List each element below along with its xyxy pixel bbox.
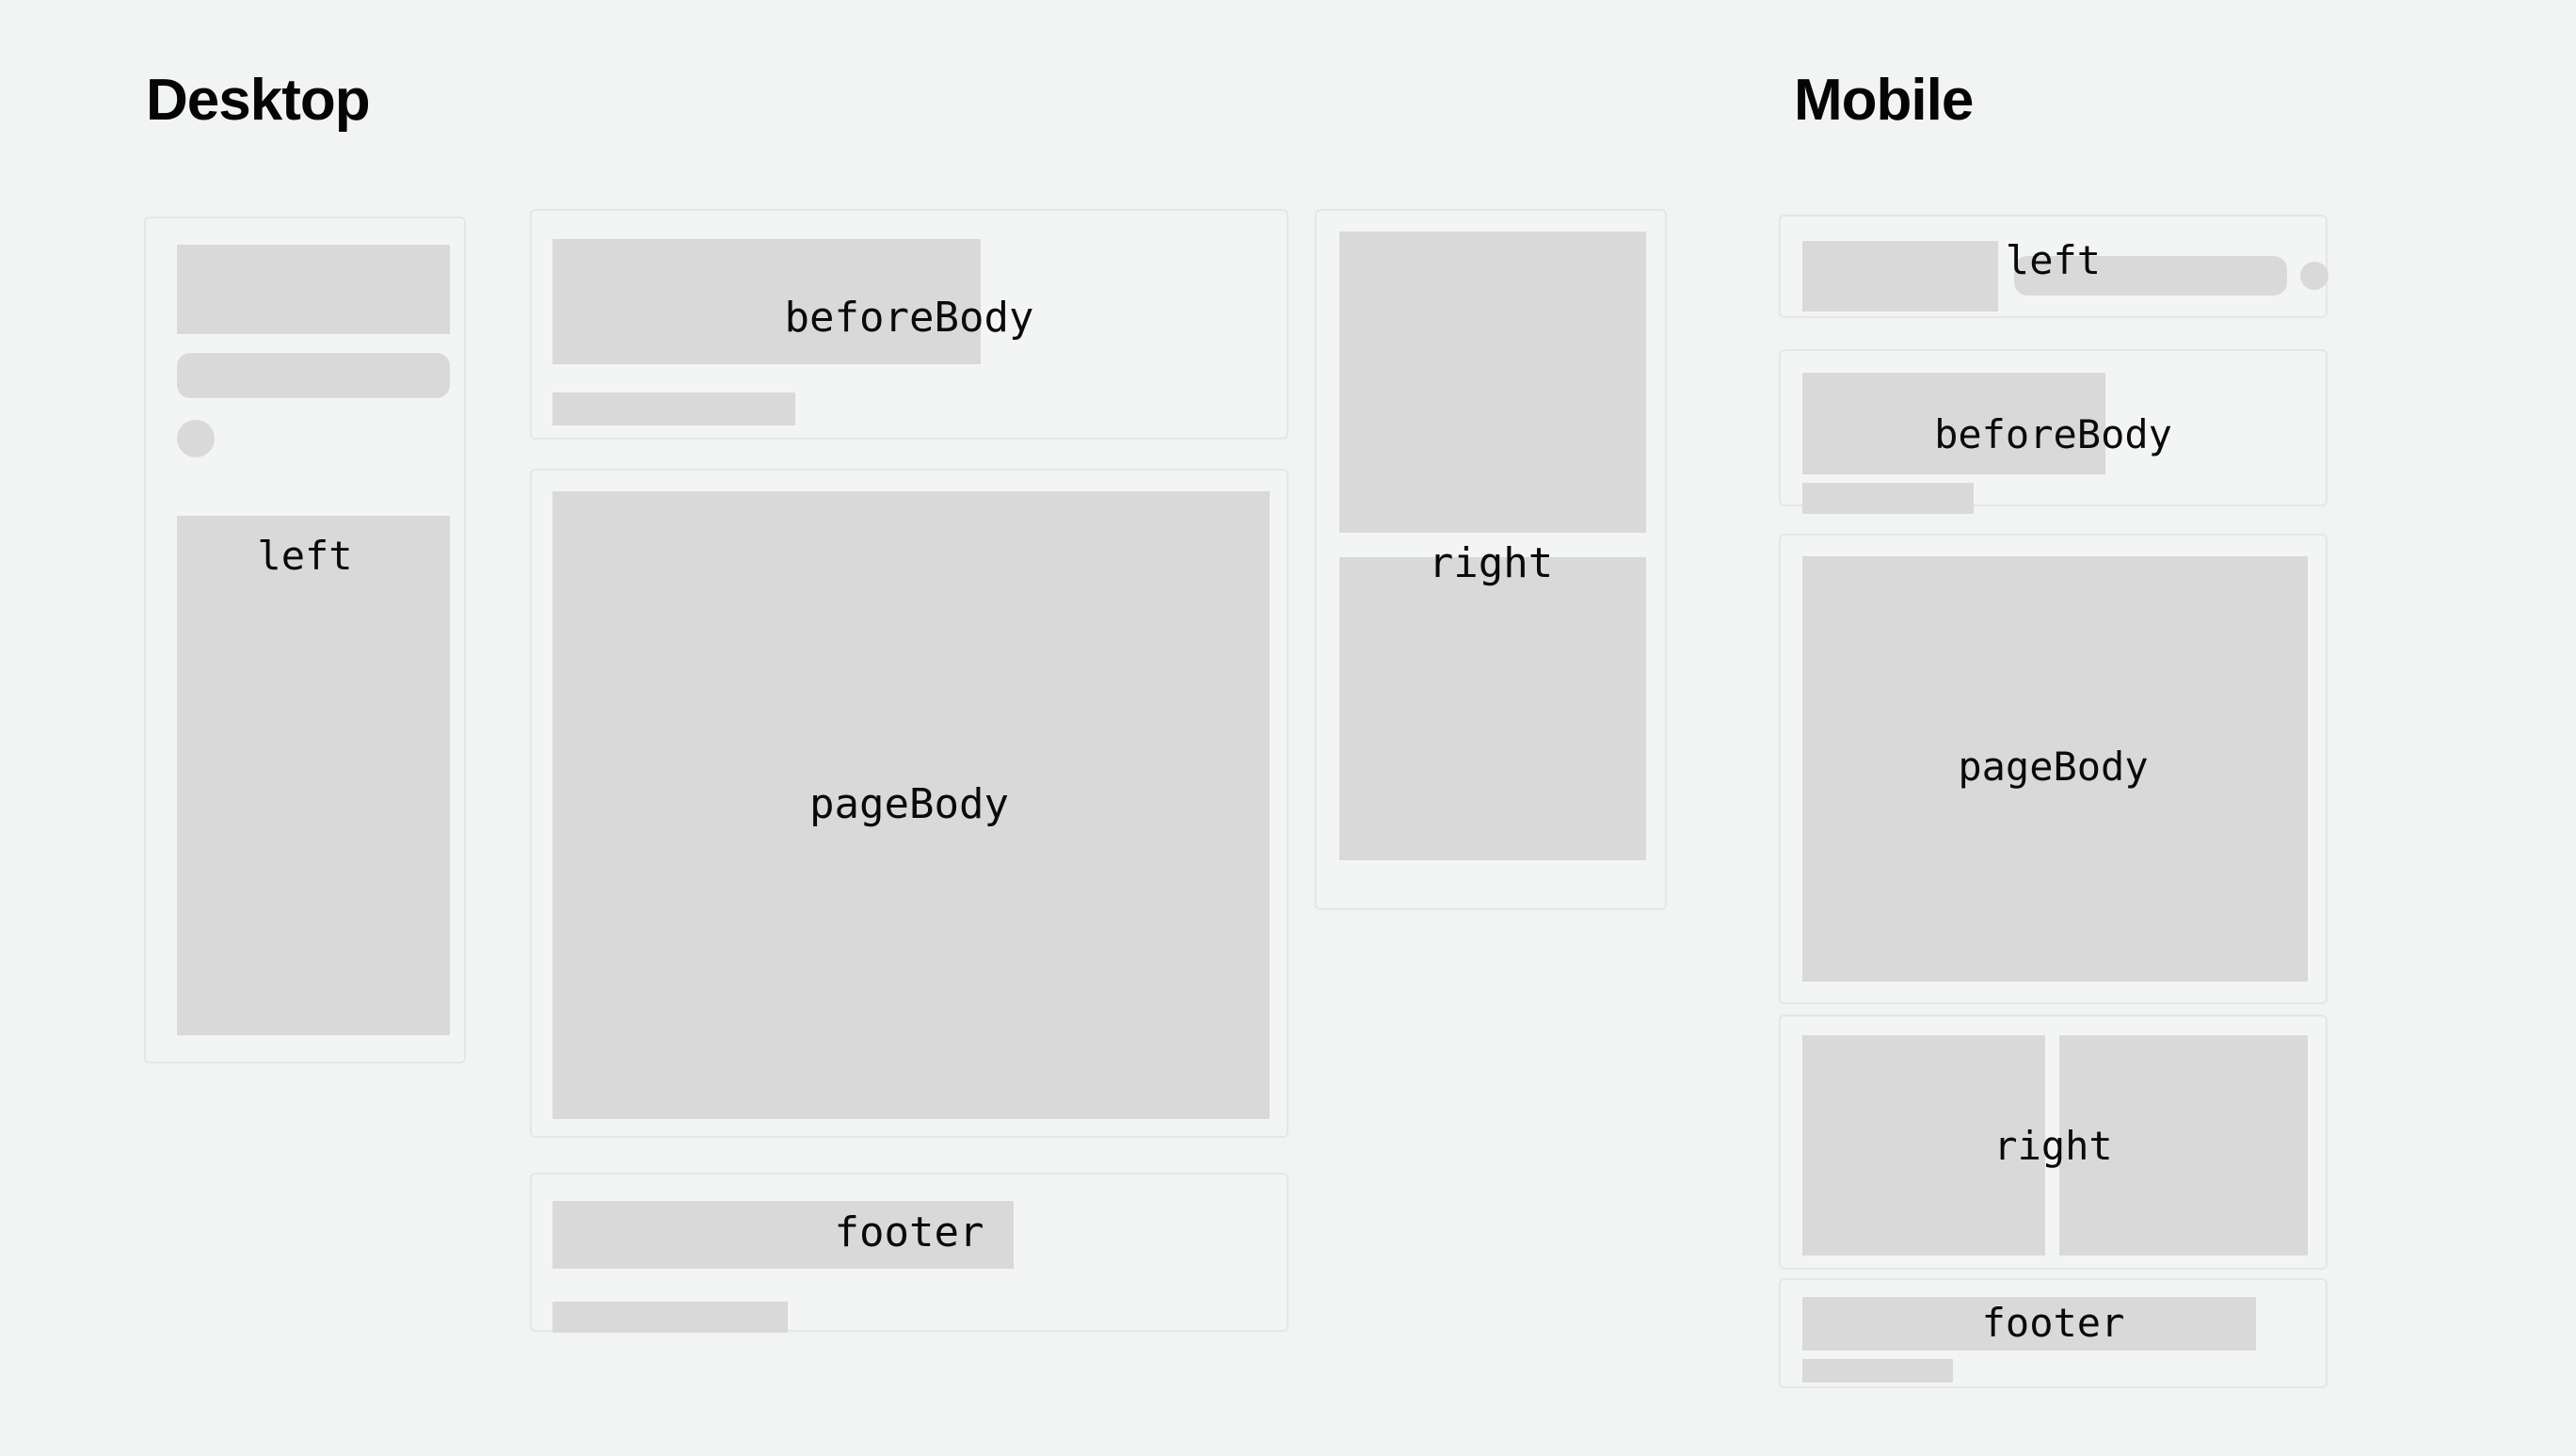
desktop-footer-block-2 [552, 1302, 788, 1333]
wireframe-canvas: Desktop left beforeBody pageBody footer … [0, 0, 2576, 1456]
desktop-before-body-block-1 [552, 239, 981, 364]
mobile-left-avatar-circle [2300, 262, 2328, 290]
mobile-page-body-block-1 [1802, 556, 2308, 982]
desktop-left-block-1 [177, 245, 450, 334]
desktop-left-block-2 [177, 353, 450, 398]
mobile-before-body-block-1 [1802, 373, 2105, 474]
mobile-right-block-2 [2059, 1035, 2308, 1256]
desktop-left-block-4 [177, 516, 450, 1035]
mobile-footer-region-panel[interactable] [1779, 1278, 2328, 1388]
mobile-right-block-1 [1802, 1035, 2045, 1256]
desktop-right-block-2 [1339, 557, 1646, 860]
desktop-page-body-block-1 [552, 491, 1270, 1119]
desktop-left-region-panel[interactable] [144, 216, 466, 1064]
mobile-before-body-block-2 [1802, 483, 1974, 514]
mobile-footer-block-1 [1802, 1297, 2256, 1351]
mobile-footer-block-2 [1802, 1359, 1953, 1383]
desktop-footer-region-panel[interactable] [530, 1173, 1288, 1332]
desktop-right-block-1 [1339, 232, 1646, 533]
mobile-section-title: Mobile [1794, 72, 1973, 130]
mobile-left-region-panel[interactable] [1779, 215, 2328, 318]
desktop-footer-block-1 [552, 1201, 1014, 1269]
mobile-page-body-region-panel[interactable] [1779, 534, 2328, 1004]
desktop-right-region-panel[interactable] [1315, 209, 1667, 910]
mobile-right-region-panel[interactable] [1779, 1015, 2328, 1270]
desktop-before-body-block-2 [552, 392, 795, 425]
mobile-left-block-2 [2014, 256, 2287, 296]
mobile-before-body-region-panel[interactable] [1779, 349, 2328, 506]
mobile-left-block-1 [1802, 241, 1998, 312]
desktop-left-avatar-circle [177, 420, 215, 457]
desktop-section-title: Desktop [146, 72, 370, 130]
desktop-before-body-region-panel[interactable] [530, 209, 1288, 440]
desktop-page-body-region-panel[interactable] [530, 469, 1288, 1138]
